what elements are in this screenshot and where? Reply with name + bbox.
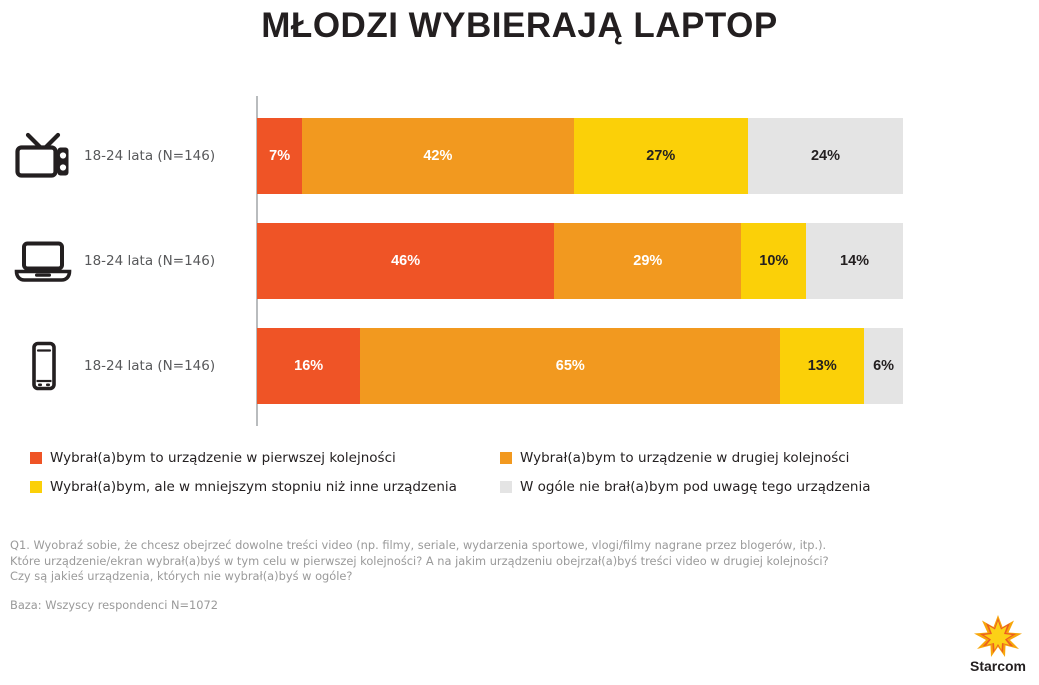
legend-label: Wybrał(a)bym, ale w mniejszym stopniu ni…: [50, 479, 457, 495]
stacked-bar: 46% 29% 10% 14%: [257, 223, 903, 299]
bar-segment-first-choice: 16%: [257, 328, 360, 404]
legend-label: Wybrał(a)bym to urządzenie w drugiej kol…: [520, 450, 849, 466]
legend-swatch-icon: [30, 452, 42, 464]
chart-legend: Wybrał(a)bym to urządzenie w pierwszej k…: [30, 450, 990, 506]
tv-icon: [12, 118, 74, 194]
legend-item-lesser-extent: Wybrał(a)bym, ale w mniejszym stopniu ni…: [30, 479, 457, 495]
smartphone-icon: [12, 328, 74, 404]
legend-item-not-considered: W ogóle nie brał(a)bym pod uwagę tego ur…: [500, 479, 870, 495]
footnote-line: Czy są jakieś urządzenia, których nie wy…: [10, 569, 910, 585]
bar-segment-lesser-extent: 13%: [780, 328, 864, 404]
bar-segment-lesser-extent: 27%: [574, 118, 748, 194]
bar-segment-not-considered: 24%: [748, 118, 903, 194]
bar-segment-not-considered: 14%: [806, 223, 903, 299]
bar-segment-lesser-extent: 10%: [741, 223, 806, 299]
chart-plot-area: 18-24 lata (N=146) 7% 42% 27% 24% 18-24 …: [0, 96, 1039, 426]
legend-item-first-choice: Wybrał(a)bym to urządzenie w pierwszej k…: [30, 450, 396, 466]
bar-segment-not-considered: 6%: [864, 328, 903, 404]
legend-swatch-icon: [500, 481, 512, 493]
footnote-question: Q1. Wyobraź sobie, że chcesz obejrzeć do…: [10, 538, 910, 585]
bar-segment-first-choice: 7%: [257, 118, 302, 194]
legend-label: W ogóle nie brał(a)bym pod uwagę tego ur…: [520, 479, 870, 495]
bar-segment-first-choice: 46%: [257, 223, 554, 299]
legend-swatch-icon: [500, 452, 512, 464]
starcom-logo: Starcom: [963, 614, 1033, 680]
starburst-icon: [971, 614, 1025, 658]
footnote-base: Baza: Wszyscy respondenci N=1072: [10, 598, 218, 612]
chart-row-smartphone: 18-24 lata (N=146) 16% 65% 13% 6%: [0, 328, 1039, 404]
logo-wordmark: Starcom: [963, 658, 1033, 674]
footnote-line: Które urządzenie/ekran wybrał(a)byś w ty…: [10, 554, 910, 570]
stacked-bar: 7% 42% 27% 24%: [257, 118, 903, 194]
row-label: 18-24 lata (N=146): [84, 328, 215, 404]
page-title: MŁODZI WYBIERAJĄ LAPTOP: [0, 6, 1039, 46]
row-label: 18-24 lata (N=146): [84, 223, 215, 299]
bar-segment-second-choice: 29%: [554, 223, 741, 299]
stacked-bar: 16% 65% 13% 6%: [257, 328, 903, 404]
row-label: 18-24 lata (N=146): [84, 118, 215, 194]
laptop-icon: [12, 223, 74, 299]
chart-row-laptop: 18-24 lata (N=146) 46% 29% 10% 14%: [0, 223, 1039, 299]
bar-segment-second-choice: 42%: [302, 118, 573, 194]
bar-segment-second-choice: 65%: [360, 328, 780, 404]
legend-swatch-icon: [30, 481, 42, 493]
legend-label: Wybrał(a)bym to urządzenie w pierwszej k…: [50, 450, 396, 466]
footnote-line: Q1. Wyobraź sobie, że chcesz obejrzeć do…: [10, 538, 910, 554]
legend-item-second-choice: Wybrał(a)bym to urządzenie w drugiej kol…: [500, 450, 849, 466]
chart-row-tv: 18-24 lata (N=146) 7% 42% 27% 24%: [0, 118, 1039, 194]
